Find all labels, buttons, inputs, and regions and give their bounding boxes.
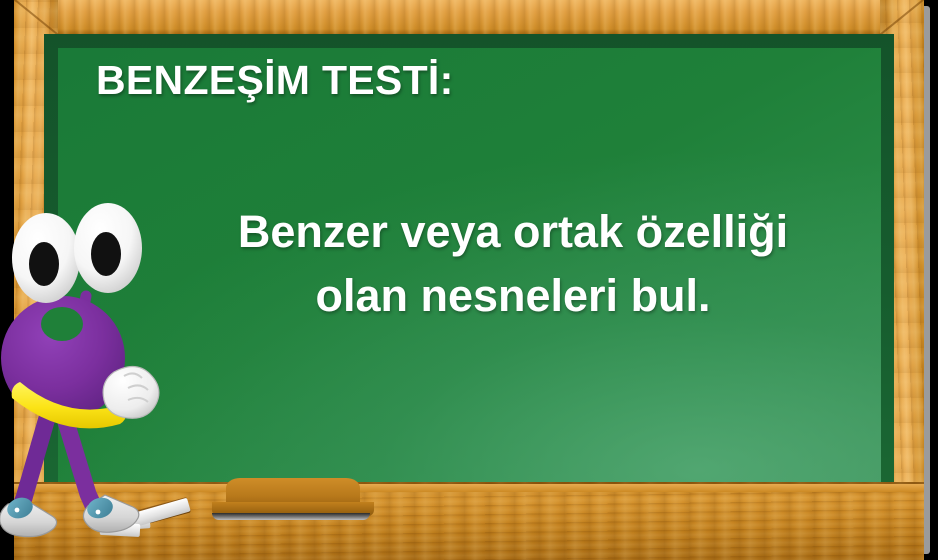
chalk-holder xyxy=(226,478,360,508)
mascot-letter-e-character xyxy=(0,186,200,560)
board-body-line-1: Benzer veya ortak özelliği xyxy=(150,200,876,264)
frame-mitre-top-right xyxy=(877,0,926,37)
mascot-eye-right xyxy=(74,203,142,293)
mascot-glove-hand xyxy=(103,366,159,418)
mascot-shoe-left xyxy=(0,494,57,536)
chalkboard-scene: BENZEŞİM TESTİ: Benzer veya ortak özelli… xyxy=(0,0,938,560)
frame-rail-top xyxy=(14,0,924,34)
board-title: BENZEŞİM TESTİ: xyxy=(96,57,454,104)
board-body-line-2: olan nesneleri bul. xyxy=(150,264,876,328)
mascot-legs xyxy=(18,418,96,512)
mascot-eye-left xyxy=(12,213,80,303)
board-body-text: Benzer veya ortak özelliği olan nesneler… xyxy=(150,200,876,328)
frame-mitre-top-left xyxy=(11,0,60,37)
